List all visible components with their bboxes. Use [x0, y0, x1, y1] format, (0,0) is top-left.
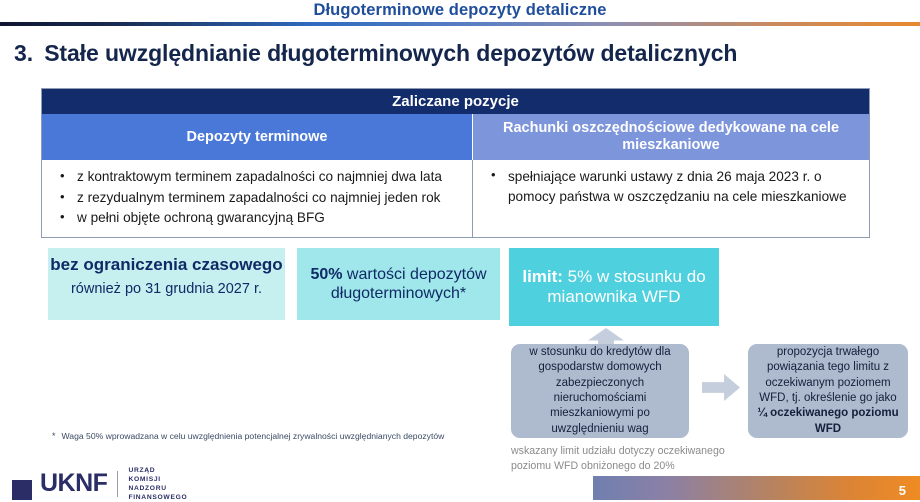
footnote-asterisk: * Waga 50% wprowadzana w celu uwzględnie…	[52, 430, 452, 443]
table-header-row: Depozyty terminowe Rachunki oszczędności…	[42, 114, 869, 160]
highlight-box-3-strong: limit:	[522, 267, 563, 286]
page-number: 5	[899, 483, 906, 498]
table-cell-savings: spełniające warunki ustawy z dnia 26 maj…	[473, 160, 869, 237]
footer-logo-subtitle: URZĄDKOMISJINADZORUFINANSOWEGO	[128, 466, 187, 502]
list-item: spełniające warunki ustawy z dnia 26 maj…	[487, 167, 861, 206]
footer-logo-text: UKNF	[40, 469, 107, 498]
note-box-proposal-text: propozycja trwałego powiązania tego limi…	[756, 345, 900, 437]
header-gradient-rule	[0, 22, 920, 26]
note-box-proposal-lead: propozycja trwałego powiązania tego limi…	[759, 346, 896, 404]
footer-logo-square-icon	[12, 480, 32, 500]
table-body-row: z kontraktowym terminem zapadalności co …	[42, 160, 869, 237]
table-column-header-savings: Rachunki oszczędnościowe dedykowane na c…	[473, 114, 869, 160]
table-cell-deposits: z kontraktowym terminem zapadalności co …	[42, 160, 473, 237]
note-box-proposal: propozycja trwałego powiązania tego limi…	[748, 344, 908, 438]
arrow-right-icon	[702, 374, 740, 401]
list-item: z kontraktowym terminem zapadalności co …	[56, 167, 464, 188]
slide-number: 3.	[14, 40, 33, 67]
note-box-credits-text: w stosunku do kredytów dla gospodarstw d…	[519, 345, 681, 437]
highlight-box-2-rest: wartości depozytów długoterminowych*	[331, 266, 487, 302]
included-positions-table: Zaliczane pozycje Depozyty terminowe Rac…	[41, 88, 870, 238]
table-column-header-deposits: Depozyty terminowe	[42, 114, 473, 160]
page-title: 3. Stałe uwzględnianie długoterminowych …	[14, 40, 894, 67]
table-caption: Zaliczane pozycje	[42, 89, 869, 114]
footer-divider	[117, 471, 118, 497]
highlight-box-fifty-percent: 50% wartości depozytów długoterminowych*	[297, 248, 500, 320]
highlight-box-3-rest: 5% w stosunku do mianownika WFD	[547, 267, 705, 306]
highlight-box-3-line: limit: 5% w stosunku do mianownika WFD	[515, 267, 713, 307]
highlight-box-1-sub: również po 31 grudnia 2027 r.	[48, 281, 285, 297]
footer-bar: UKNF URZĄDKOMISJINADZORUFINANSOWEGO 5	[0, 474, 920, 502]
footnote-limit-note: wskazany limit udziału dotyczy oczekiwan…	[511, 444, 761, 474]
list-item: w pełni objęte ochroną gwarancyjną BFG	[56, 208, 464, 229]
highlight-box-1-strong: bez ograniczenia czasowego	[48, 255, 285, 275]
footer-gradient-bar	[593, 476, 920, 500]
highlight-box-2-line: 50% wartości depozytów długoterminowych*	[303, 265, 494, 303]
highlight-box-limit: limit: 5% w stosunku do mianownika WFD	[509, 248, 719, 326]
note-box-proposal-strong: ¼ oczekiwanego poziomu WFD	[757, 407, 898, 434]
slide-header-title: Długoterminowe depozyty detaliczne	[0, 1, 920, 20]
highlight-box-2-strong: 50%	[310, 266, 342, 283]
list-item: z rezydualnym terminem zapadalności co n…	[56, 188, 464, 209]
highlight-box-no-time-limit: bez ograniczenia czasowego również po 31…	[48, 248, 285, 320]
footer-logo: UKNF URZĄDKOMISJINADZORUFINANSOWEGO	[40, 466, 187, 502]
footnote-mark: *	[52, 430, 56, 443]
slide-root: Długoterminowe depozyty detaliczne 3. St…	[0, 0, 920, 502]
slide-title-text: Stałe uwzględnianie długoterminowych dep…	[44, 40, 737, 67]
savings-bullet-list: spełniające warunki ustawy z dnia 26 maj…	[487, 167, 861, 206]
footnote-text: Waga 50% wprowadzana w celu uwzględnieni…	[62, 430, 445, 443]
deposits-bullet-list: z kontraktowym terminem zapadalności co …	[56, 167, 464, 229]
note-box-credits: w stosunku do kredytów dla gospodarstw d…	[511, 344, 689, 438]
